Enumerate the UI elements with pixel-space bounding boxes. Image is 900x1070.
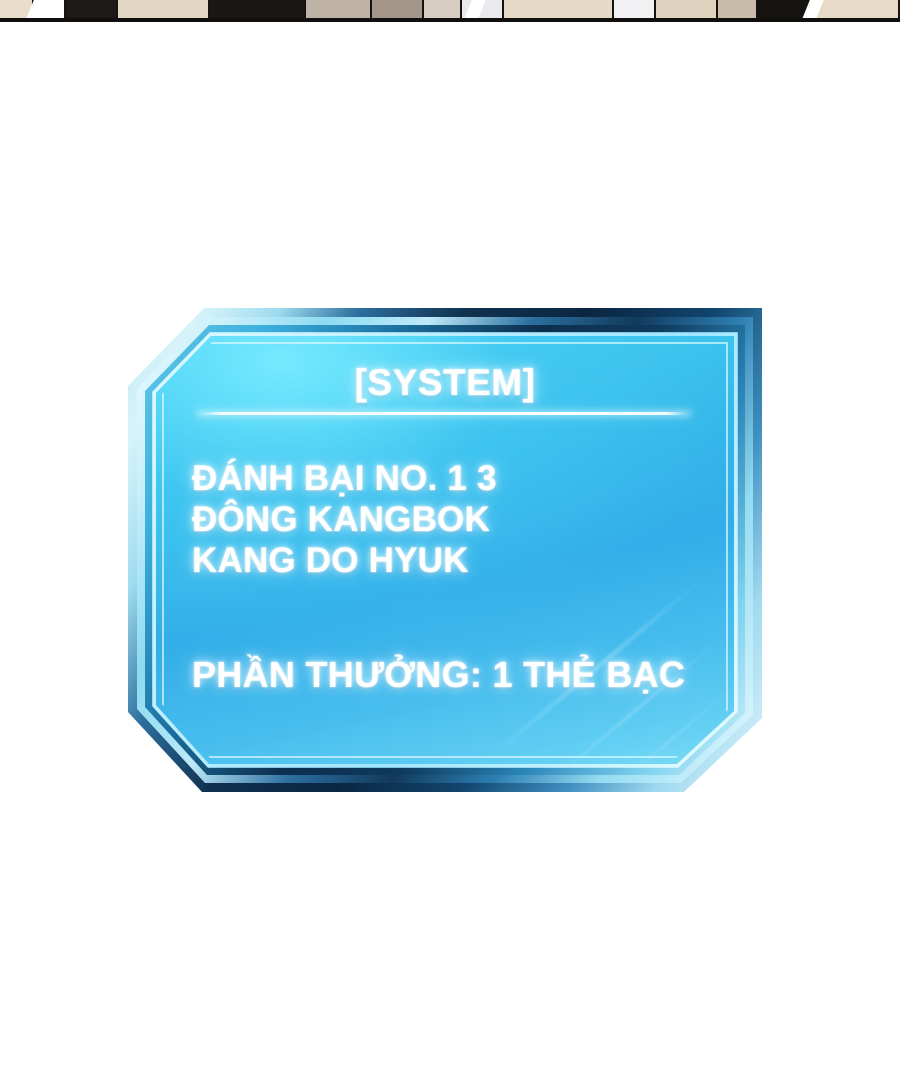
comic-cell xyxy=(210,0,306,19)
system-notification-panel: [SYSTEM] ĐÁNH BẠI NO. 1 3 ĐÔNG KANGBOK K… xyxy=(128,308,762,792)
message-line-1: ĐÁNH BẠI NO. 1 3 xyxy=(192,458,714,499)
panel-baseline xyxy=(0,18,900,22)
comic-cell xyxy=(812,0,900,19)
message-block: ĐÁNH BẠI NO. 1 3 ĐÔNG KANGBOK KANG DO HY… xyxy=(192,458,714,581)
previous-panel-strip xyxy=(0,0,900,22)
reward-block: PHẦN THƯỞNG: 1 THẺ BẠC xyxy=(192,654,720,696)
comic-cell xyxy=(656,0,718,19)
title-divider xyxy=(196,412,691,415)
panel-title: [SYSTEM] xyxy=(156,362,734,404)
comic-cell xyxy=(118,0,210,19)
comic-cell xyxy=(718,0,758,19)
comic-cell xyxy=(614,0,656,19)
reward-line: PHẦN THƯỞNG: 1 THẺ BẠC xyxy=(192,654,720,696)
comic-cell xyxy=(66,0,118,19)
message-line-2: ĐÔNG KANGBOK xyxy=(192,499,714,540)
panel-content: [SYSTEM] ĐÁNH BẠI NO. 1 3 ĐÔNG KANGBOK K… xyxy=(156,336,734,764)
comic-cell xyxy=(424,0,462,19)
comic-cell xyxy=(504,0,614,19)
message-line-3: KANG DO HYUK xyxy=(192,540,714,581)
comic-cell xyxy=(372,0,424,19)
comic-cell xyxy=(306,0,372,19)
